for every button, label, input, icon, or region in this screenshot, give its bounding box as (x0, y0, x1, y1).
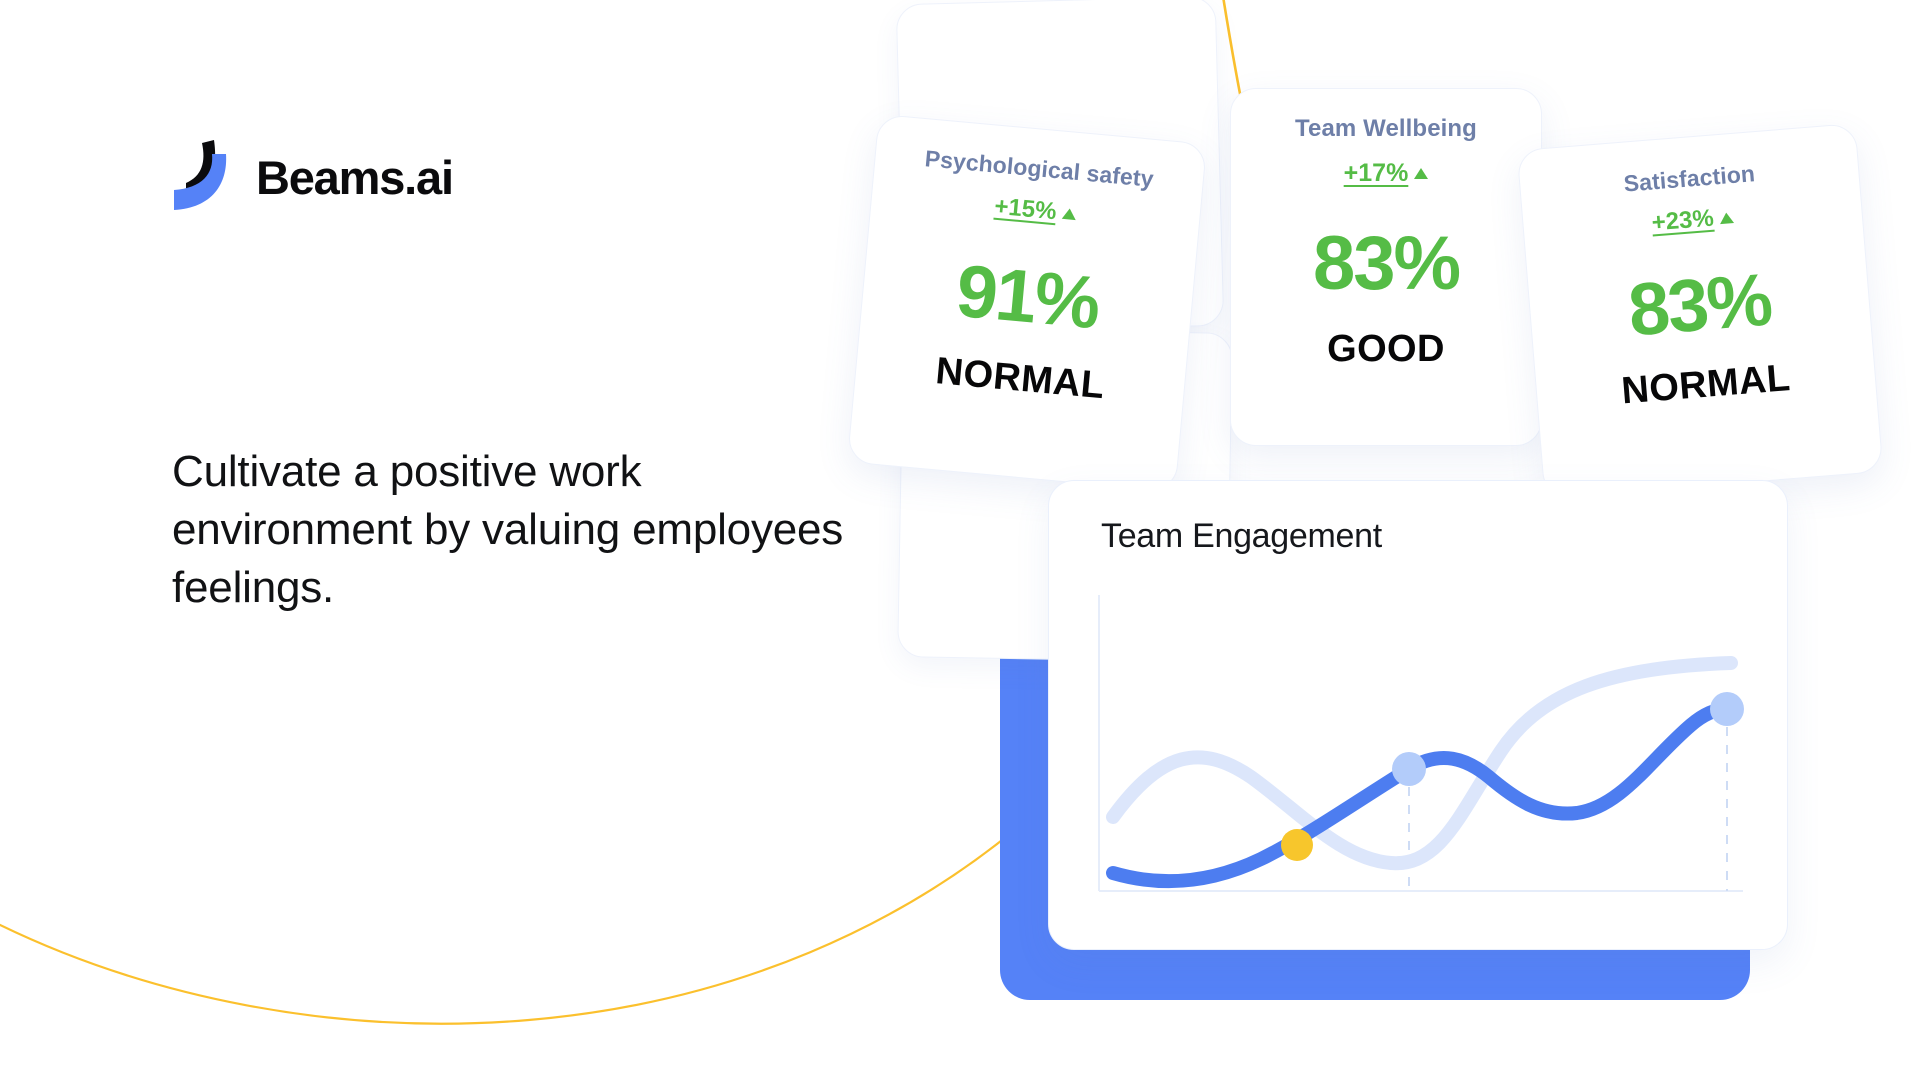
metric-card-delta: +23% (1651, 203, 1735, 237)
metric-card-title: Team Wellbeing (1295, 115, 1477, 143)
brand-name: Beams.ai (256, 154, 453, 201)
metric-card-team-wellbeing[interactable]: Team Wellbeing +17% 83% GOOD (1230, 88, 1542, 446)
metric-card-title: Psychological safety (924, 145, 1155, 193)
brand-logo[interactable]: Beams.ai (168, 138, 453, 216)
beams-crescent-logo-icon (168, 138, 238, 216)
metric-delta-value: +23% (1651, 205, 1715, 238)
metric-card-delta: +17% (1344, 159, 1429, 188)
metric-card-psychological-safety[interactable]: Psychological safety +15% 91% NORMAL (847, 114, 1207, 492)
metric-card-value: 83% (1626, 262, 1774, 347)
metric-card-title: Satisfaction (1623, 160, 1756, 197)
team-engagement-chart-card[interactable]: Team Engagement (1048, 480, 1788, 950)
metric-card-status: NORMAL (934, 350, 1106, 408)
promo-slide: Beams.ai Cultivate a positive work envir… (0, 0, 1920, 1080)
metric-delta-value: +17% (1344, 159, 1409, 188)
triangle-up-icon (1414, 168, 1428, 179)
dashboard-visual-cluster: Psychological safety +15% 91% NORMAL Tea… (900, 0, 1920, 1080)
metric-card-status: GOOD (1327, 328, 1445, 371)
chart-plot-area (1091, 591, 1751, 921)
metric-card-delta: +15% (993, 193, 1077, 228)
metric-card-satisfaction[interactable]: Satisfaction +23% 83% NORMAL (1517, 123, 1884, 499)
data-point-blue-peak (1392, 752, 1426, 786)
triangle-up-icon (1719, 212, 1734, 224)
metric-delta-value: +15% (993, 193, 1057, 227)
chart-title: Team Engagement (1101, 517, 1382, 556)
metric-card-value: 83% (1313, 226, 1459, 302)
metric-card-status: NORMAL (1620, 357, 1792, 413)
data-point-yellow (1281, 829, 1313, 861)
headline-text: Cultivate a positive work environment by… (172, 443, 852, 617)
metric-card-value: 91% (953, 254, 1101, 341)
triangle-up-icon (1062, 207, 1077, 219)
data-point-blue-end (1710, 692, 1744, 726)
